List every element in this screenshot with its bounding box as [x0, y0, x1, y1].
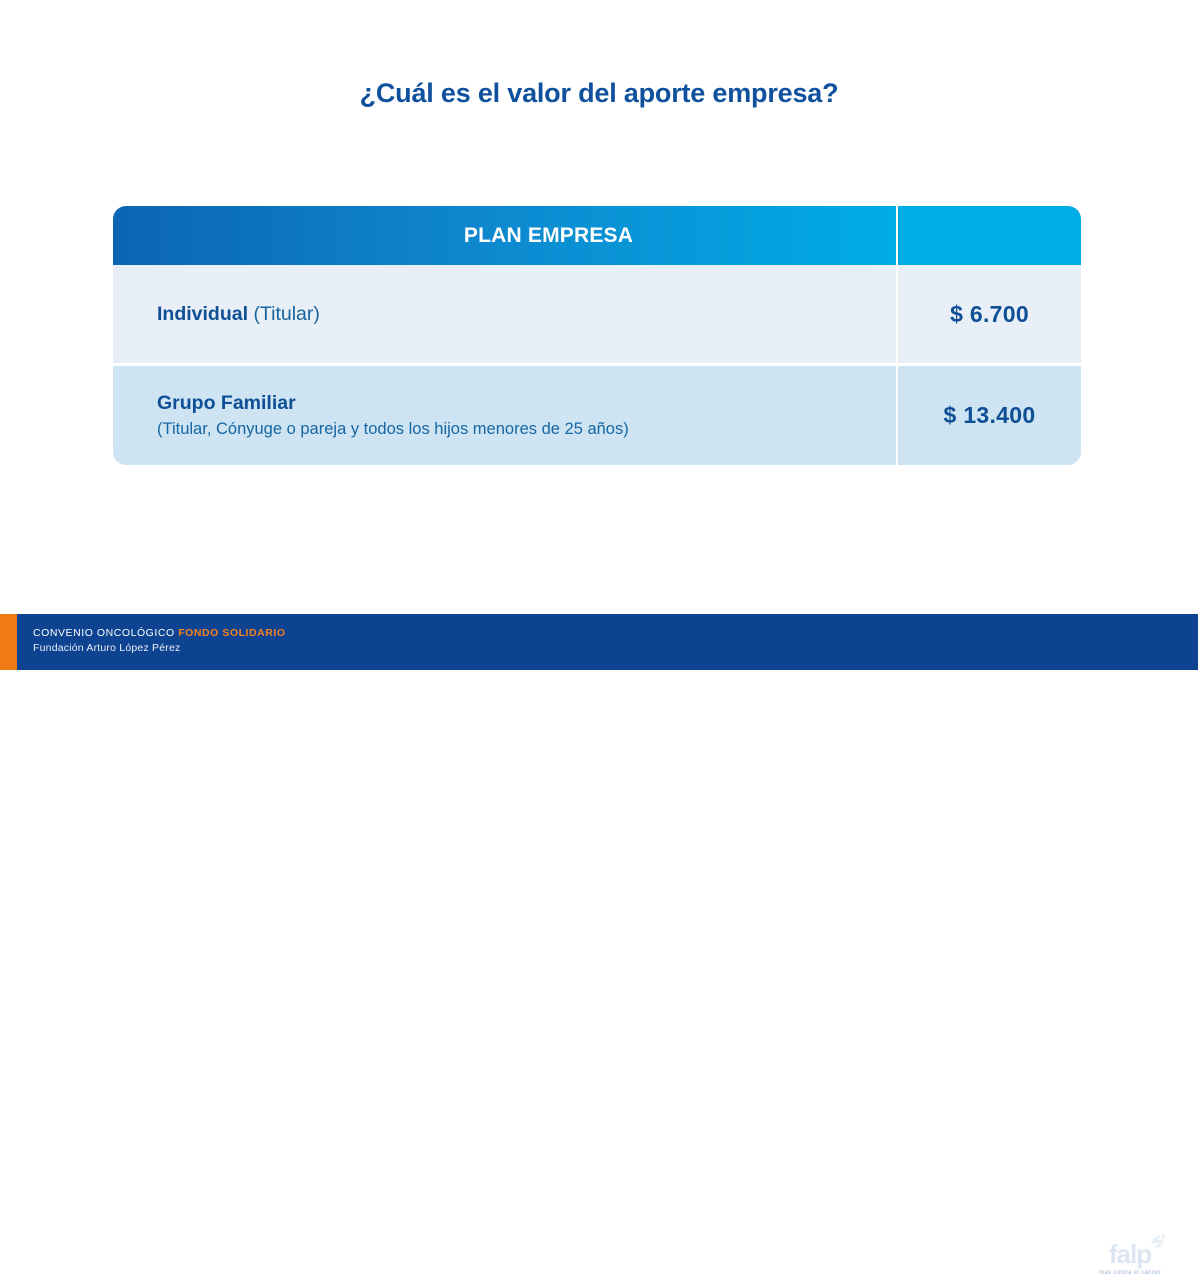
- table-row: Grupo Familiar (Titular, Cónyuge o parej…: [113, 366, 1081, 465]
- falp-tagline: mas contra el cáncer: [1078, 1270, 1182, 1276]
- plan-name-suffix: (Titular): [253, 303, 319, 325]
- footer-convenio-strong: FONDO SOLIDARIO: [178, 627, 285, 639]
- plan-name-cell: Individual (Titular): [113, 265, 896, 363]
- plan-name-text: Grupo Familiar: [157, 392, 296, 414]
- footer-bar: CONVENIO ONCOLÓGICO FONDO SOLIDARIO Fund…: [0, 614, 1198, 670]
- plan-name-individual: Individual (Titular): [157, 302, 896, 327]
- page-title: ¿Cuál es el valor del aporte empresa?: [0, 78, 1198, 109]
- footer-accent-block: [0, 614, 17, 670]
- table-row: Individual (Titular) $ 6.700: [113, 265, 1081, 363]
- footer-credits: CONVENIO ONCOLÓGICO FONDO SOLIDARIO Fund…: [33, 626, 286, 656]
- footer-line-convenio: CONVENIO ONCOLÓGICO FONDO SOLIDARIO: [33, 626, 286, 641]
- falp-logo: falp mas contra el cáncer: [1078, 1234, 1182, 1278]
- table-header-value-cell: [898, 206, 1081, 265]
- footer-convenio-prefix: CONVENIO ONCOLÓGICO: [33, 627, 178, 639]
- plan-pricing-table: PLAN EMPRESA Individual (Titular) $ 6.70…: [113, 206, 1081, 465]
- plan-price-cell: $ 6.700: [898, 265, 1081, 363]
- table-header-row: PLAN EMPRESA: [113, 206, 1081, 265]
- table-header-label-cell: PLAN EMPRESA: [113, 206, 896, 265]
- plan-name-cell: Grupo Familiar (Titular, Cónyuge o parej…: [113, 366, 896, 465]
- slide-canvas: ¿Cuál es el valor del aporte empresa? PL…: [0, 0, 1198, 670]
- plan-price-grupo-familiar: $ 13.400: [944, 402, 1036, 429]
- plan-detail-grupo-familiar: (Titular, Cónyuge o pareja y todos los h…: [157, 419, 896, 440]
- plan-price-cell: $ 13.400: [898, 366, 1081, 465]
- plan-price-individual: $ 6.700: [950, 301, 1029, 328]
- plan-name-grupo-familiar: Grupo Familiar: [157, 391, 896, 416]
- falp-wordmark: falp: [1078, 1241, 1182, 1267]
- plan-name-text: Individual: [157, 303, 248, 325]
- footer-line-fundacion: Fundación Arturo López Pérez: [33, 641, 286, 656]
- table-header-title: PLAN EMPRESA: [420, 224, 633, 248]
